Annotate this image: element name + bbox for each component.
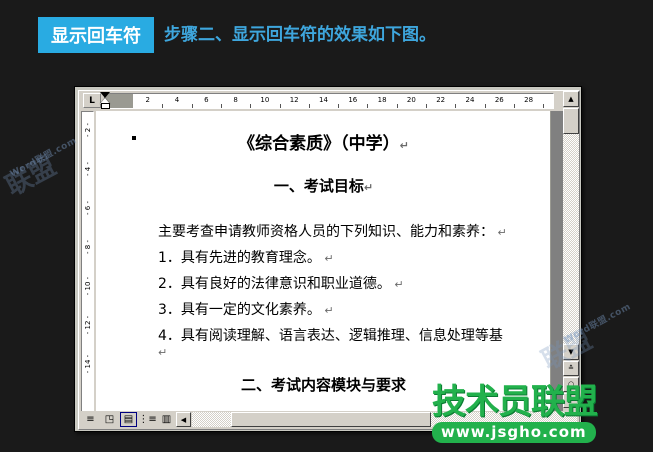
paragraph-mark: ↵ — [321, 252, 334, 265]
ruler-tick-14: 14 — [319, 95, 328, 106]
ruler-tick-2: 2 — [145, 95, 149, 106]
web-layout-view-button[interactable]: ◳ — [101, 412, 118, 427]
paragraph-mark: ↵ — [321, 304, 334, 317]
ruler-minor-tick — [455, 104, 456, 108]
outline-view-button[interactable]: ⋮≡ — [139, 412, 156, 427]
document-heading-1: 一、考试目标 — [274, 177, 364, 195]
site-logo-name: 技术员联盟 — [432, 384, 632, 420]
horizontal-scroll-thumb[interactable] — [231, 412, 431, 427]
site-logo: 技术员联盟 www.jsgho.com — [432, 384, 632, 443]
vruler-tick-14: - 14 - — [84, 355, 92, 373]
ruler-minor-tick — [367, 104, 368, 108]
document-body-text: 1．具有先进的教育理念。 — [158, 250, 321, 266]
ruler-tick-4: 4 — [175, 95, 179, 106]
paragraph-mark-heading1: ↵ — [364, 181, 373, 194]
document-body-line: 3．具有一定的文化素养。 ↵ — [158, 299, 334, 319]
ruler-minor-tick — [192, 104, 193, 108]
document-empty-paragraph: ↵ — [158, 344, 167, 360]
ruler-tick-28: 28 — [524, 95, 533, 106]
indent-markers[interactable] — [100, 92, 112, 110]
ruler-tick-24: 24 — [466, 95, 475, 106]
left-indent-marker[interactable] — [101, 103, 110, 109]
previous-page-button[interactable]: ≛ — [563, 361, 579, 376]
vertical-ruler-track: - 2 -- 4 -- 6 -- 8 -- 10 -- 12 -- 14 - — [81, 111, 94, 411]
ruler-tick-10: 10 — [260, 95, 269, 106]
ruler-tick-16: 16 — [348, 95, 357, 106]
document-body-text: 3．具有一定的文化素养。 — [158, 302, 321, 318]
ruler-minor-tick — [426, 104, 427, 108]
watermark-lianmeng-left: 联盟 — [0, 146, 62, 203]
paragraph-mark: ↵ — [494, 226, 507, 239]
word-window-client: L 24681012141618202224262830 - 2 -- 4 --… — [78, 90, 580, 430]
tab-stop-selector[interactable]: L — [83, 93, 101, 108]
ruler-tick-12: 12 — [290, 95, 299, 106]
ruler-minor-tick — [280, 104, 281, 108]
ruler-minor-tick — [309, 104, 310, 108]
word-document-window: L 24681012141618202224262830 - 2 -- 4 --… — [74, 86, 582, 432]
vruler-tick-12: - 12 - — [84, 316, 92, 334]
document-title-line: 《综合素质》（中学）↵ — [96, 129, 551, 154]
watermark-word-lianmeng-small: Word联盟.com — [7, 133, 78, 179]
document-body-line: 4．具有阅读理解、语言表达、逻辑推理、信息处理等基 — [158, 325, 503, 345]
ruler-tick-30: 30 — [553, 95, 554, 106]
ruler-tick-18: 18 — [378, 95, 387, 106]
normal-view-button[interactable]: ≡ — [82, 412, 99, 427]
ruler-tick-22: 22 — [436, 95, 445, 106]
print-layout-view-button[interactable]: ▤ — [120, 412, 137, 427]
vertical-scrollbar[interactable]: ▲ ▼ ≛ ○ ≛ — [563, 91, 579, 411]
ruler-tick-6: 6 — [204, 95, 208, 106]
document-body-text: 4．具有阅读理解、语言表达、逻辑推理、信息处理等基 — [158, 328, 503, 344]
ruler-minor-tick — [397, 104, 398, 108]
paragraph-mark-empty: ↵ — [158, 346, 167, 359]
horizontal-ruler[interactable]: L 24681012141618202224262830 — [79, 91, 579, 111]
document-body-line: 1．具有先进的教育理念。 ↵ — [158, 247, 334, 267]
header-badge: 显示回车符 — [38, 17, 154, 53]
vruler-tick-2: - 2 - — [84, 123, 92, 137]
paragraph-mark-title: ↵ — [400, 139, 409, 152]
ruler-minor-tick — [221, 104, 222, 108]
header-banner: 显示回车符 步骤二、显示回车符的效果如下图。 — [0, 0, 653, 72]
ruler-minor-tick — [250, 104, 251, 108]
horizontal-ruler-track[interactable]: 24681012141618202224262830 — [104, 93, 554, 109]
screenshot-root: 显示回车符 步骤二、显示回车符的效果如下图。 L 246810121416182… — [0, 0, 653, 452]
document-body-text: 主要考查申请教师资格人员的下列知识、能力和素养： — [158, 224, 494, 240]
document-page[interactable]: 《综合素质》（中学）↵ 一、考试目标↵ 主要考查申请教师资格人员的下列知识、能力… — [96, 111, 551, 411]
ruler-minor-tick — [338, 104, 339, 108]
document-body-text: 2．具有良好的法律意识和职业道德。 — [158, 276, 391, 292]
vertical-scroll-thumb[interactable] — [563, 108, 579, 134]
ruler-tick-26: 26 — [495, 95, 504, 106]
ruler-tick-8: 8 — [233, 95, 237, 106]
document-canvas[interactable]: 《综合素质》（中学）↵ 一、考试目标↵ 主要考查申请教师资格人员的下列知识、能力… — [96, 111, 563, 411]
site-logo-url: www.jsgho.com — [432, 422, 596, 443]
vertical-scroll-track[interactable] — [563, 134, 579, 359]
scroll-down-button[interactable]: ▼ — [563, 344, 579, 360]
ruler-minor-tick — [162, 104, 163, 108]
ruler-minor-tick — [543, 104, 544, 108]
header-caption: 步骤二、显示回车符的效果如下图。 — [164, 19, 436, 51]
ruler-minor-tick — [485, 104, 486, 108]
document-body-line: 主要考查申请教师资格人员的下列知识、能力和素养： ↵ — [158, 221, 507, 241]
vruler-tick-4: - 4 - — [84, 162, 92, 176]
ruler-tick-20: 20 — [407, 95, 416, 106]
vruler-tick-6: - 6 - — [84, 201, 92, 215]
scroll-left-button[interactable]: ◀ — [176, 412, 191, 427]
reading-layout-view-button[interactable]: ▥ — [158, 412, 175, 427]
document-heading-1-line: 一、考试目标↵ — [96, 175, 551, 196]
vruler-tick-8: - 8 - — [84, 240, 92, 254]
ruler-minor-tick — [514, 104, 515, 108]
vruler-tick-10: - 10 - — [84, 277, 92, 295]
document-body-line: 2．具有良好的法律意识和职业道德。 ↵ — [158, 273, 404, 293]
document-heading-2: 二、考试内容模块与要求 — [241, 376, 406, 394]
document-title: 《综合素质》（中学） — [238, 134, 400, 154]
scroll-up-button[interactable]: ▲ — [563, 91, 579, 107]
paragraph-mark: ↵ — [391, 278, 404, 291]
vertical-ruler[interactable]: - 2 -- 4 -- 6 -- 8 -- 10 -- 12 -- 14 - — [79, 111, 96, 411]
view-buttons-group[interactable]: ≡◳▤⋮≡▥ — [82, 412, 175, 427]
